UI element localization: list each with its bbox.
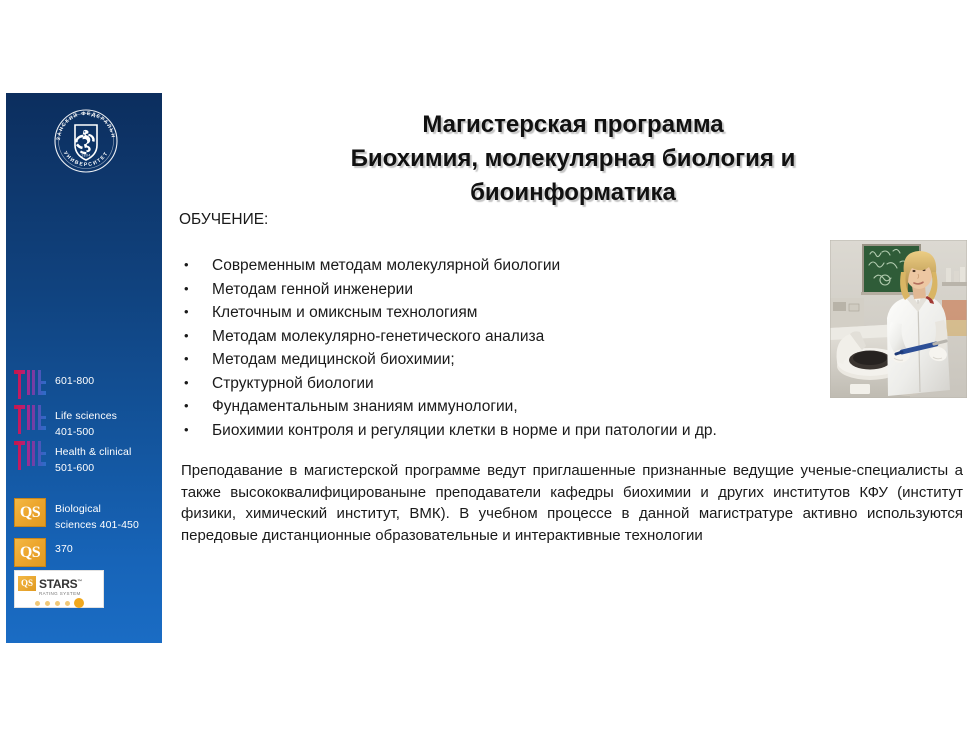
page-title: Магистерская программа Биохимия, молекул… [178, 108, 968, 210]
list-item: Методам медицинской биохимии; [179, 349, 859, 372]
ranking-text: Life sciences 401-500 [55, 405, 117, 440]
qs-mark-icon: QS [18, 576, 36, 591]
list-item: Биохимии контроля и регуляции клетки в н… [179, 420, 859, 443]
ranking-row-qs-overall: QS 370 [14, 538, 73, 567]
list-item: Современным методам молекулярной биологи… [179, 255, 859, 278]
star-dot [55, 601, 60, 606]
svg-text:1804: 1804 [81, 154, 91, 158]
title-line-2: Биохимия, молекулярная биология и [178, 142, 968, 176]
list-item: Методам генной инженерии [179, 279, 859, 302]
list-item: Структурной биологии [179, 373, 859, 396]
ranking-text: Health & clinical 501-600 [55, 441, 131, 476]
laboratory-photo [830, 240, 967, 398]
description-paragraph: Преподавание в магистерской программе ве… [181, 460, 963, 546]
qs-stars-word: STARS™ [39, 576, 82, 590]
ranking-text: 601-800 [55, 370, 94, 390]
qs-logo-icon: QS [14, 538, 46, 567]
sidebar-panel: КАЗАНСКИЙ ФЕДЕРАЛЬНЫЙ УНИВЕРСИТЕТ 1804 6… [6, 93, 162, 643]
qs-stars-badge: QS STARS™ RATING SYSTEM [14, 570, 104, 608]
ranking-text: Biological sciences 401-450 [55, 498, 139, 533]
qs-stars-subtitle: RATING SYSTEM [39, 591, 100, 596]
title-line-3: биоинформатика [178, 176, 968, 210]
star-dot-filled [75, 599, 83, 607]
the-logo-icon [14, 370, 46, 399]
section-subheading: ОБУЧЕНИЕ: [179, 211, 268, 229]
list-item: Методам молекулярно-генетического анализ… [179, 326, 859, 349]
list-item: Фундаментальным знаниям иммунологии, [179, 396, 859, 419]
star-dot [35, 601, 40, 606]
star-dot [65, 601, 70, 606]
ranking-row-the-overall: 601-800 [14, 370, 94, 399]
ranking-row-the-health-clinical: Health & clinical 501-600 [14, 441, 131, 476]
qs-stars-rating-dots [18, 599, 100, 607]
ranking-row-qs-biological-sciences: QS Biological sciences 401-450 [14, 498, 139, 533]
the-logo-icon [14, 405, 46, 434]
title-line-1: Магистерская программа [178, 108, 968, 142]
qs-logo-icon: QS [14, 498, 46, 527]
training-topics-list: Современным методам молекулярной биологи… [179, 255, 859, 443]
trademark-symbol: ™ [77, 579, 82, 585]
the-logo-icon [14, 441, 46, 470]
ranking-row-the-life-sciences: Life sciences 401-500 [14, 405, 117, 440]
kfu-logo-icon: КАЗАНСКИЙ ФЕДЕРАЛЬНЫЙ УНИВЕРСИТЕТ 1804 [50, 105, 122, 177]
stars-label: STARS [39, 577, 77, 591]
ranking-text: 370 [55, 538, 73, 558]
star-dot [45, 601, 50, 606]
list-item: Клеточным и омиксным технологиям [179, 302, 859, 325]
